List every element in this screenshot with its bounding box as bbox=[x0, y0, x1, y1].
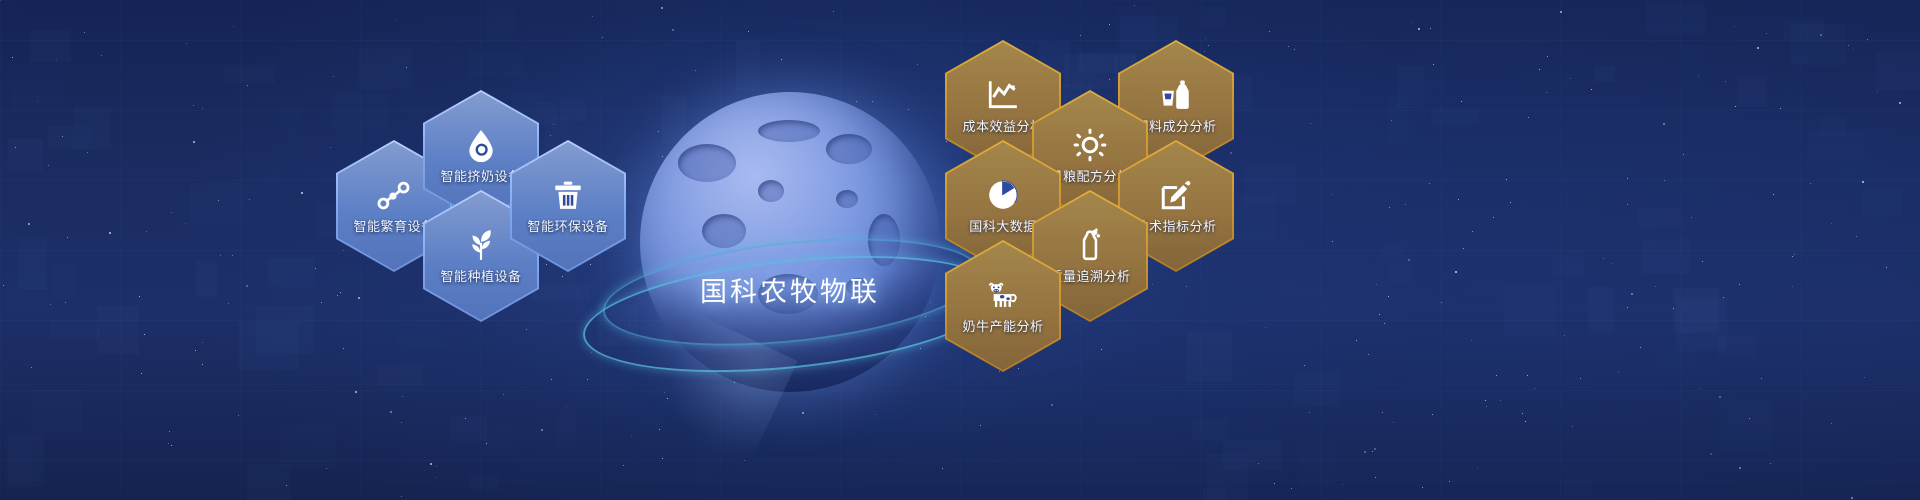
star bbox=[1810, 183, 1811, 184]
star bbox=[326, 468, 327, 469]
star bbox=[1496, 375, 1497, 376]
star bbox=[141, 373, 142, 374]
star bbox=[1379, 314, 1380, 315]
star bbox=[315, 268, 316, 269]
star bbox=[1408, 259, 1410, 261]
star bbox=[1848, 45, 1849, 46]
star bbox=[1432, 414, 1433, 415]
star bbox=[84, 32, 85, 33]
star bbox=[1291, 488, 1292, 489]
star bbox=[146, 231, 147, 232]
hex-tile-environment[interactable]: 智能环保设备 bbox=[510, 140, 626, 272]
star bbox=[1441, 302, 1442, 303]
hex-content: 奶牛产能分析 bbox=[945, 240, 1061, 372]
star bbox=[144, 334, 145, 335]
sun-icon bbox=[1073, 128, 1107, 162]
star bbox=[101, 55, 102, 56]
star bbox=[917, 64, 918, 65]
star bbox=[1770, 463, 1771, 464]
star bbox=[503, 394, 504, 395]
star bbox=[1384, 323, 1385, 324]
star bbox=[465, 418, 466, 419]
star bbox=[358, 297, 360, 299]
star bbox=[833, 11, 834, 12]
star bbox=[672, 29, 674, 31]
star bbox=[631, 436, 632, 437]
star bbox=[1080, 35, 1081, 36]
star bbox=[286, 485, 287, 486]
star bbox=[1506, 179, 1507, 180]
star bbox=[1820, 34, 1822, 36]
star bbox=[193, 105, 194, 106]
star bbox=[343, 348, 344, 349]
star bbox=[1486, 406, 1487, 407]
star bbox=[1831, 223, 1832, 224]
star bbox=[1382, 412, 1383, 413]
star bbox=[1899, 102, 1901, 104]
star bbox=[355, 391, 357, 393]
star bbox=[193, 141, 195, 143]
star bbox=[1364, 451, 1366, 453]
hero-banner: 国科农牧物联 智能繁育设备智能挤奶设备智能种植设备智能环保设备成本效益分析饲料成… bbox=[0, 0, 1920, 500]
star bbox=[802, 412, 804, 414]
star bbox=[1389, 207, 1390, 208]
star bbox=[337, 295, 338, 296]
star bbox=[1471, 340, 1472, 341]
star bbox=[1342, 484, 1343, 485]
star bbox=[1564, 335, 1565, 336]
star bbox=[1405, 204, 1406, 205]
line-chart-icon bbox=[986, 78, 1020, 112]
star bbox=[1429, 183, 1430, 184]
star bbox=[249, 199, 250, 200]
star bbox=[1205, 38, 1206, 39]
star bbox=[1627, 307, 1628, 308]
star bbox=[592, 16, 593, 17]
star bbox=[1391, 120, 1392, 121]
star bbox=[56, 59, 57, 60]
star bbox=[1461, 101, 1462, 102]
star bbox=[1591, 89, 1592, 90]
star bbox=[65, 302, 66, 303]
star bbox=[1560, 11, 1562, 13]
star bbox=[1331, 194, 1332, 195]
star bbox=[1856, 236, 1857, 237]
star bbox=[591, 352, 592, 353]
star bbox=[1374, 448, 1376, 450]
star bbox=[1539, 69, 1540, 70]
star bbox=[48, 165, 49, 166]
hex-label: 质量追溯分析 bbox=[1049, 266, 1130, 285]
star bbox=[228, 303, 229, 304]
star bbox=[662, 458, 663, 459]
star bbox=[0, 0, 1, 1]
star bbox=[1368, 354, 1369, 355]
star bbox=[1864, 377, 1865, 378]
star bbox=[1152, 284, 1153, 285]
star bbox=[402, 396, 403, 397]
hex-label: 国科大数据 bbox=[969, 216, 1037, 235]
star bbox=[1780, 108, 1781, 109]
star bbox=[62, 136, 63, 137]
star bbox=[1700, 388, 1701, 389]
star bbox=[550, 135, 551, 136]
star bbox=[1388, 296, 1389, 297]
star bbox=[1376, 284, 1377, 285]
star bbox=[109, 232, 111, 234]
star bbox=[748, 31, 749, 32]
star bbox=[1546, 92, 1547, 93]
star bbox=[1734, 26, 1735, 27]
star bbox=[695, 70, 696, 71]
star bbox=[587, 379, 588, 380]
star bbox=[1101, 349, 1102, 350]
star bbox=[1691, 217, 1692, 218]
hex-tile-cow-capacity[interactable]: 奶牛产能分析 bbox=[945, 240, 1061, 372]
star bbox=[1603, 258, 1604, 259]
star bbox=[1794, 254, 1795, 255]
star bbox=[185, 223, 186, 224]
star bbox=[430, 463, 432, 465]
star bbox=[321, 302, 322, 303]
star bbox=[12, 57, 13, 58]
star bbox=[168, 443, 169, 444]
star bbox=[195, 350, 196, 351]
star bbox=[1673, 308, 1674, 309]
hex-content: 智能环保设备 bbox=[510, 140, 626, 272]
star bbox=[1186, 286, 1187, 287]
star bbox=[330, 147, 331, 148]
star bbox=[1725, 81, 1726, 82]
star bbox=[1310, 123, 1311, 124]
star bbox=[37, 101, 38, 102]
star bbox=[553, 124, 554, 125]
milk-bottle-icon bbox=[1073, 228, 1107, 262]
star bbox=[562, 276, 563, 277]
star bbox=[1534, 388, 1535, 389]
star bbox=[1683, 154, 1684, 155]
hex-label: 奶牛产能分析 bbox=[962, 316, 1043, 335]
hex-label: 智能环保设备 bbox=[527, 216, 608, 235]
star bbox=[1547, 56, 1548, 57]
star bbox=[401, 496, 402, 497]
star bbox=[186, 43, 187, 44]
star bbox=[1749, 418, 1750, 419]
edit-pencil-icon bbox=[1159, 178, 1193, 212]
star bbox=[1867, 39, 1868, 40]
star bbox=[233, 26, 234, 27]
star bbox=[333, 76, 334, 77]
star bbox=[1831, 423, 1832, 424]
star bbox=[1449, 481, 1450, 482]
star bbox=[1522, 413, 1523, 414]
star bbox=[246, 285, 248, 287]
pie-chart-icon bbox=[986, 178, 1020, 212]
star bbox=[87, 152, 88, 153]
star bbox=[1134, 5, 1135, 6]
star bbox=[171, 445, 172, 446]
star bbox=[1640, 347, 1641, 348]
star bbox=[1109, 79, 1110, 80]
star bbox=[1735, 106, 1736, 107]
star bbox=[1309, 412, 1310, 413]
star bbox=[1411, 22, 1412, 23]
star bbox=[1527, 375, 1528, 376]
star bbox=[1612, 263, 1613, 264]
star bbox=[1580, 378, 1581, 379]
star bbox=[1757, 47, 1759, 49]
star bbox=[942, 468, 943, 469]
star bbox=[202, 364, 203, 365]
star bbox=[602, 37, 603, 38]
star bbox=[1572, 426, 1573, 427]
star bbox=[1702, 261, 1703, 262]
star bbox=[1877, 91, 1878, 92]
star bbox=[1418, 28, 1420, 30]
star bbox=[401, 422, 402, 423]
star bbox=[171, 212, 172, 213]
star bbox=[486, 443, 487, 444]
star bbox=[980, 425, 981, 426]
star bbox=[1265, 327, 1266, 328]
star bbox=[202, 108, 203, 109]
star bbox=[1627, 178, 1628, 179]
star bbox=[31, 367, 32, 368]
star bbox=[1792, 256, 1793, 257]
star bbox=[1655, 286, 1656, 287]
star bbox=[1528, 117, 1529, 118]
star bbox=[1493, 217, 1494, 218]
star bbox=[1739, 284, 1740, 285]
star bbox=[1430, 28, 1431, 29]
star bbox=[1739, 467, 1741, 469]
star bbox=[1274, 483, 1275, 484]
star bbox=[541, 429, 543, 431]
star bbox=[232, 255, 233, 256]
star bbox=[1356, 340, 1357, 341]
star bbox=[1269, 31, 1270, 32]
star bbox=[1766, 33, 1767, 34]
star bbox=[1500, 400, 1501, 401]
star bbox=[1422, 487, 1423, 488]
star bbox=[301, 192, 303, 194]
star bbox=[340, 292, 341, 293]
star bbox=[1510, 202, 1511, 203]
star bbox=[28, 223, 30, 225]
star bbox=[1663, 123, 1665, 125]
star bbox=[1792, 286, 1793, 287]
star bbox=[1627, 204, 1628, 205]
star bbox=[661, 7, 663, 9]
star bbox=[139, 296, 140, 297]
page-title: 国科农牧物联 bbox=[640, 270, 940, 309]
star bbox=[1886, 267, 1887, 268]
star bbox=[436, 477, 437, 478]
cow-icon bbox=[986, 278, 1020, 312]
star bbox=[551, 379, 552, 380]
star bbox=[1664, 180, 1665, 181]
star bbox=[1458, 199, 1459, 200]
node-network-icon bbox=[377, 178, 411, 212]
star bbox=[396, 19, 397, 20]
star bbox=[1472, 231, 1473, 232]
star bbox=[1525, 421, 1526, 422]
star bbox=[15, 147, 16, 148]
star bbox=[1393, 422, 1394, 423]
star bbox=[781, 59, 782, 60]
star bbox=[1485, 400, 1486, 401]
star bbox=[1477, 468, 1478, 469]
star bbox=[1570, 78, 1571, 79]
star bbox=[875, 414, 876, 415]
star bbox=[1710, 453, 1712, 455]
star bbox=[220, 255, 221, 256]
star bbox=[1698, 76, 1699, 77]
star bbox=[169, 431, 170, 432]
star bbox=[436, 466, 437, 467]
star bbox=[1258, 463, 1259, 464]
star bbox=[390, 411, 392, 413]
star bbox=[1051, 404, 1053, 406]
star bbox=[202, 342, 203, 343]
star bbox=[50, 304, 51, 305]
star bbox=[1332, 241, 1333, 242]
star bbox=[247, 85, 248, 86]
star bbox=[1372, 451, 1373, 452]
milk-bottle-cup-icon bbox=[1159, 78, 1193, 112]
star bbox=[1723, 297, 1724, 298]
star bbox=[218, 200, 219, 201]
star bbox=[1288, 46, 1289, 47]
star bbox=[526, 329, 527, 330]
star bbox=[1773, 194, 1774, 195]
star bbox=[1455, 271, 1457, 273]
star bbox=[406, 67, 407, 68]
plant-leaf-icon bbox=[464, 228, 498, 262]
star bbox=[1851, 497, 1853, 499]
star bbox=[3, 285, 4, 286]
star bbox=[1463, 248, 1464, 249]
star bbox=[1862, 181, 1864, 183]
star bbox=[1109, 24, 1110, 25]
star bbox=[1375, 477, 1376, 478]
star bbox=[623, 465, 624, 466]
star bbox=[1304, 365, 1305, 366]
water-drop-icon bbox=[464, 128, 498, 162]
center-planet-group: 国科农牧物联 bbox=[640, 92, 940, 392]
star bbox=[238, 415, 239, 416]
star bbox=[1433, 64, 1434, 65]
star bbox=[566, 406, 567, 407]
star bbox=[1761, 378, 1762, 379]
star bbox=[1294, 49, 1295, 50]
star bbox=[1631, 293, 1633, 295]
trash-bin-icon bbox=[551, 178, 585, 212]
star bbox=[1719, 396, 1721, 398]
star bbox=[1853, 49, 1854, 50]
star bbox=[67, 237, 68, 238]
star bbox=[1618, 371, 1619, 372]
